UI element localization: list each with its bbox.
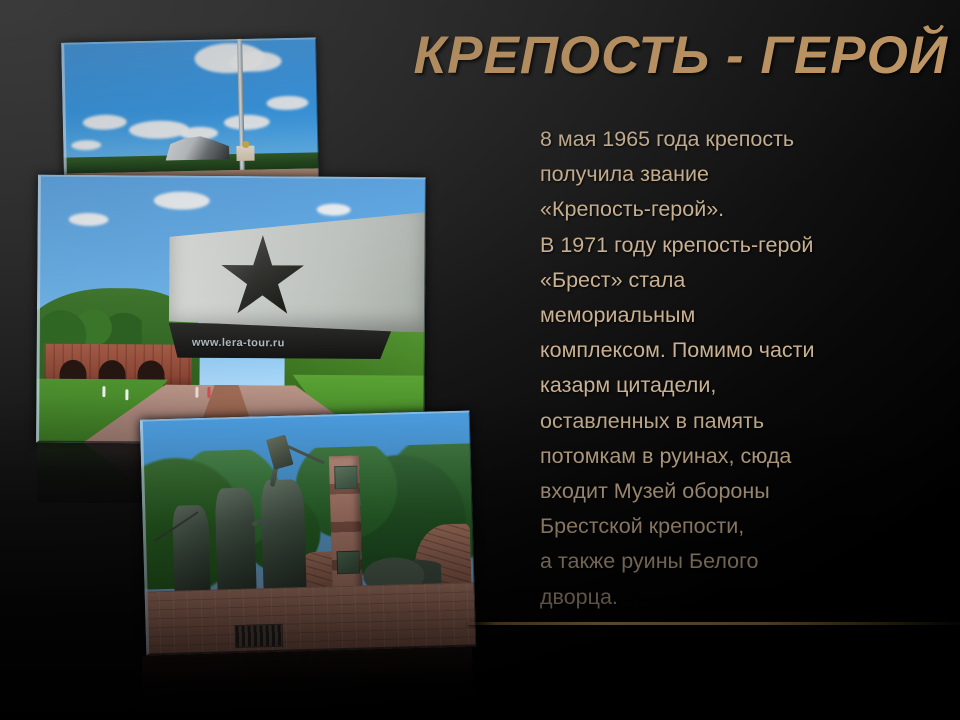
body-line: «Крепость-герой». bbox=[540, 192, 960, 227]
body-line: мемориальным bbox=[540, 298, 960, 333]
visitor-figure bbox=[126, 389, 129, 400]
granite-plinth bbox=[145, 583, 477, 656]
border-post-plate bbox=[337, 550, 361, 574]
soldier-figure bbox=[214, 487, 257, 594]
photo-sculpture-scene bbox=[140, 410, 476, 655]
photo-star-gate[interactable]: www.lera-tour.ru bbox=[36, 175, 426, 446]
church-building bbox=[237, 146, 255, 161]
visitor-figure bbox=[195, 387, 198, 398]
body-line: В 1971 году крепость-герой bbox=[540, 228, 960, 263]
ussr-emblem-plate bbox=[334, 465, 358, 489]
body-line: 8 мая 1965 года крепость bbox=[540, 122, 960, 157]
page-title: КРЕПОСТЬ - ГЕРОЙ bbox=[400, 28, 948, 84]
body-line: потомкам в руинах, сюда bbox=[540, 439, 960, 474]
body-line: дворца. bbox=[540, 580, 960, 615]
cloud-icon bbox=[317, 203, 351, 215]
body-line: получила звание bbox=[540, 157, 960, 192]
cloud-icon bbox=[69, 212, 109, 225]
body-line: казарм цитадели, bbox=[540, 368, 960, 403]
photo-watermark: www.lera-tour.ru bbox=[192, 337, 285, 350]
photo-star-gate-scene: www.lera-tour.ru bbox=[36, 175, 426, 446]
photo-sculpture[interactable] bbox=[140, 410, 476, 655]
body-line: оставленных в память bbox=[540, 404, 960, 439]
soldier-figure bbox=[172, 505, 211, 596]
body-text-block: 8 мая 1965 года крепость получила звание… bbox=[540, 122, 960, 615]
presentation-slide: www.lera-tour.ru bbox=[0, 0, 960, 720]
body-line: Брестской крепости, bbox=[540, 509, 960, 544]
gold-divider-rule bbox=[468, 622, 960, 625]
body-line: «Брест» стала bbox=[540, 263, 960, 298]
body-line: входит Музей обороны bbox=[540, 474, 960, 509]
visitor-figure bbox=[207, 387, 210, 398]
body-line: комплексом. Помимо части bbox=[540, 333, 960, 368]
visitor-figure bbox=[102, 387, 105, 398]
church-dome bbox=[242, 141, 250, 148]
soldier-figure-standing bbox=[260, 479, 306, 593]
drain-grate bbox=[235, 624, 284, 649]
body-line: а также руины Белого bbox=[540, 544, 960, 579]
